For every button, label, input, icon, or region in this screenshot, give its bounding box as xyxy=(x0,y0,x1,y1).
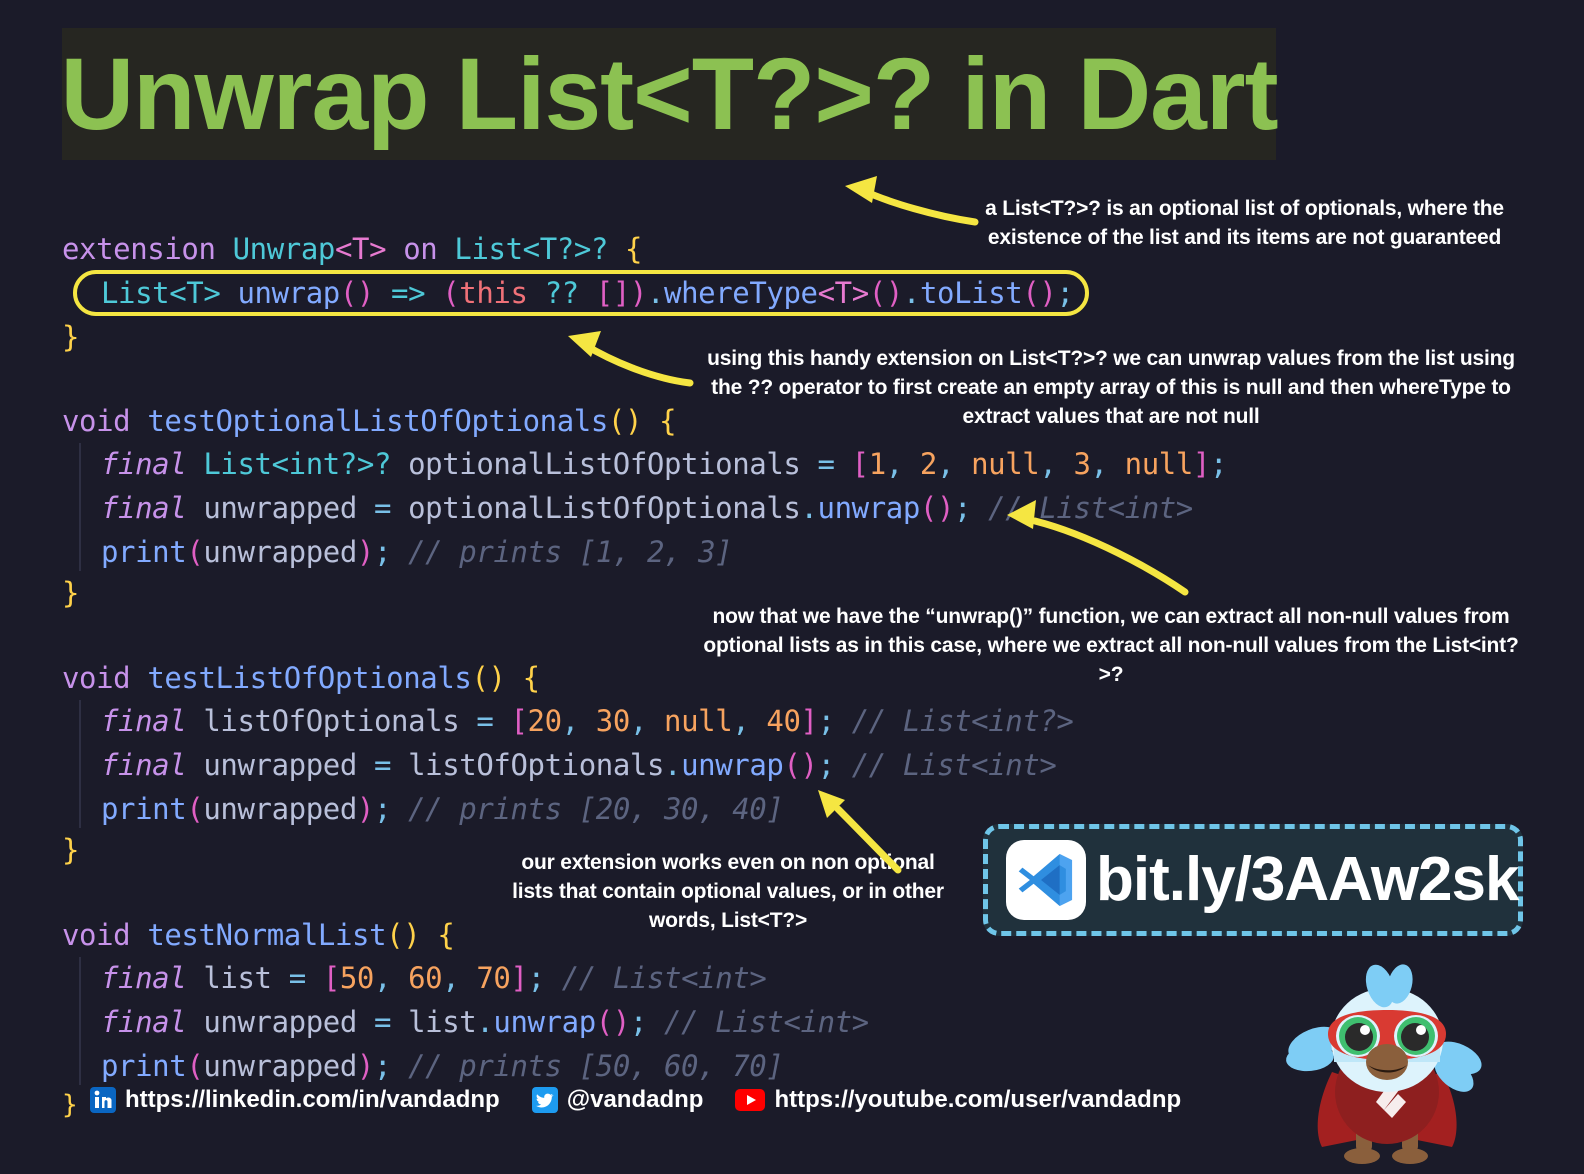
code-line-print-2: print(unwrapped); // prints [20, 30, 40] xyxy=(101,788,783,831)
token-unwrap-type: Unwrap xyxy=(233,232,335,266)
token-on: on xyxy=(403,232,437,266)
token-var-unwrapped: unwrapped xyxy=(203,491,357,525)
annotation-optional-list: a List<T?>? is an optional list of optio… xyxy=(962,194,1527,252)
code-line-unwrapped-3: final unwrapped = list.unwrap(); // List… xyxy=(101,1001,869,1044)
bitly-badge[interactable]: bit.ly/3AAw2sk xyxy=(983,824,1523,936)
twitter-icon[interactable] xyxy=(532,1087,558,1113)
footer-social-links: https://linkedin.com/in/vandadnp @vandad… xyxy=(90,1086,1181,1114)
code-line-print-3: print(unwrapped); // prints [50, 60, 70] xyxy=(101,1045,783,1088)
token-unwrap-fn: unwrap xyxy=(237,276,339,310)
comment-prints-2: // prints [20, 30, 40] xyxy=(408,792,783,826)
code-line-list-decl: final list = [50, 60, 70]; // List<int> xyxy=(101,957,766,1000)
linkedin-url[interactable]: https://linkedin.com/in/vandadnp xyxy=(125,1086,500,1114)
code-fn-testListOfOptionals: void testListOfOptionals() { xyxy=(62,657,540,700)
token-where-type: whereType xyxy=(664,276,818,310)
code-fn-testOptionalListOfOptionals: void testOptionalListOfOptionals() { xyxy=(62,400,676,443)
code-line-listofoptionals-decl: final listOfOptionals = [20, 30, null, 4… xyxy=(101,700,1074,743)
linkedin-icon[interactable] xyxy=(90,1087,116,1113)
indent-guide xyxy=(79,957,81,1085)
token-var-optional: optionalListOfOptionals xyxy=(408,447,800,481)
comment-list-int-1: // List<int> xyxy=(988,491,1193,525)
comment-list-int-3: // List<int> xyxy=(562,961,767,995)
code-close-brace-1: } xyxy=(62,316,79,359)
token-nullish: ?? xyxy=(545,276,579,310)
annotation-non-optional-lists: our extension works even on non optional… xyxy=(512,848,944,935)
token-extension: extension xyxy=(62,232,216,266)
token-fn-name-1: testOptionalListOfOptionals xyxy=(147,404,608,438)
youtube-url[interactable]: https://youtube.com/user/vandadnp xyxy=(774,1086,1181,1114)
token-print: print xyxy=(101,535,186,569)
slide-canvas: Unwrap List<T?>? in Dart extension Unwra… xyxy=(0,0,1584,1174)
comment-prints-3: // prints [50, 60, 70] xyxy=(408,1049,783,1083)
indent-guide xyxy=(79,443,81,571)
twitter-handle[interactable]: @vandadnp xyxy=(567,1086,704,1114)
code-close-brace-2: } xyxy=(62,572,79,615)
arrow-to-unwrap-line xyxy=(568,331,690,383)
code-line-print-1: print(unwrapped); // prints [1, 2, 3] xyxy=(101,531,732,574)
token-this: this xyxy=(459,276,527,310)
indent-guide xyxy=(79,700,81,828)
token-void: void xyxy=(62,404,130,438)
token-var-listofoptionals: listOfOptionals xyxy=(203,704,459,738)
code-line-unwrapped-1: final unwrapped = optionalListOfOptional… xyxy=(101,487,1193,530)
token-generic-t: <T> xyxy=(335,232,386,266)
page-title: Unwrap List<T?>? in Dart xyxy=(60,43,1277,145)
token-fn-name-2: testListOfOptionals xyxy=(147,661,471,695)
dash-mascot-icon xyxy=(1262,962,1512,1172)
youtube-icon[interactable] xyxy=(735,1089,765,1111)
comment-list-int-4: // List<int> xyxy=(664,1005,869,1039)
vscode-icon xyxy=(1006,840,1086,920)
token-fat-arrow: => xyxy=(391,276,425,310)
code-line-optional-decl: final List<int?>? optionalListOfOptional… xyxy=(101,443,1227,486)
comment-prints-1: // prints [1, 2, 3] xyxy=(408,535,732,569)
token-final: final xyxy=(101,447,186,481)
code-close-brace-4: } xyxy=(62,1084,77,1127)
code-fn-testNormalList: void testNormalList() { xyxy=(62,914,454,957)
code-close-brace-3: } xyxy=(62,829,79,872)
comment-list-int-2: // List<int> xyxy=(852,748,1057,782)
token-list-t: List<T> xyxy=(101,276,220,310)
token-to-list: toList xyxy=(920,276,1022,310)
bitly-url: bit.ly/3AAw2sk xyxy=(1096,849,1518,911)
token-open-brace: { xyxy=(625,232,642,266)
token-var-list: list xyxy=(203,961,271,995)
code-line-unwrapped-2: final unwrapped = listOfOptionals.unwrap… xyxy=(101,744,1056,787)
token-type-list-int-opt-opt: List<int?>? xyxy=(203,447,391,481)
arrow-to-title xyxy=(845,176,975,222)
code-line-unwrap-decl: List<T> unwrap() => (this ?? []).whereTy… xyxy=(101,272,1074,315)
token-list-t-opt-opt: List<T?>? xyxy=(454,232,608,266)
token-empty-array: [] xyxy=(596,276,630,310)
annotation-unwrap-function: now that we have the “unwrap()” function… xyxy=(692,602,1530,689)
code-block-extension: extension Unwrap<T> on List<T?>? { xyxy=(62,228,642,271)
token-fn-name-3: testNormalList xyxy=(147,918,386,952)
comment-list-int-opt: // List<int?> xyxy=(852,704,1074,738)
annotation-extension-usage: using this handy extension on List<T?>? … xyxy=(692,344,1530,431)
title-banner: Unwrap List<T?>? in Dart xyxy=(62,28,1276,160)
